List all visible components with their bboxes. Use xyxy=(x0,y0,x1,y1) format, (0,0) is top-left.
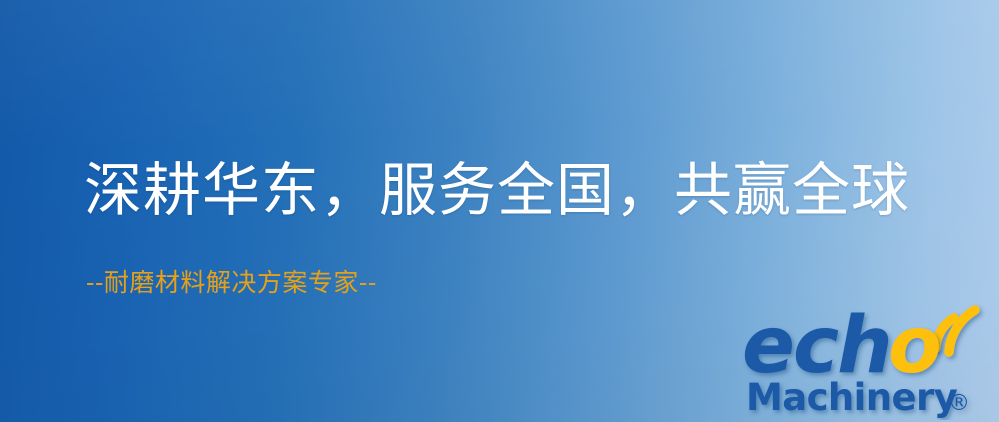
logo-subtext: Machinery xyxy=(746,376,958,419)
logo-registered-mark: ® xyxy=(948,391,970,416)
signal-waves-icon xyxy=(936,310,975,352)
echo-machinery-logo[interactable]: ech o Machinery ® echo Machinery ® xyxy=(742,296,994,420)
banner-headline: 深耕华东，服务全国，共赢全球 xyxy=(84,158,910,222)
banner-subtitle: --耐磨材料解决方案专家-- xyxy=(86,268,377,298)
hero-banner: 深耕华东，服务全国，共赢全球 --耐磨材料解决方案专家-- ech o xyxy=(0,0,999,422)
